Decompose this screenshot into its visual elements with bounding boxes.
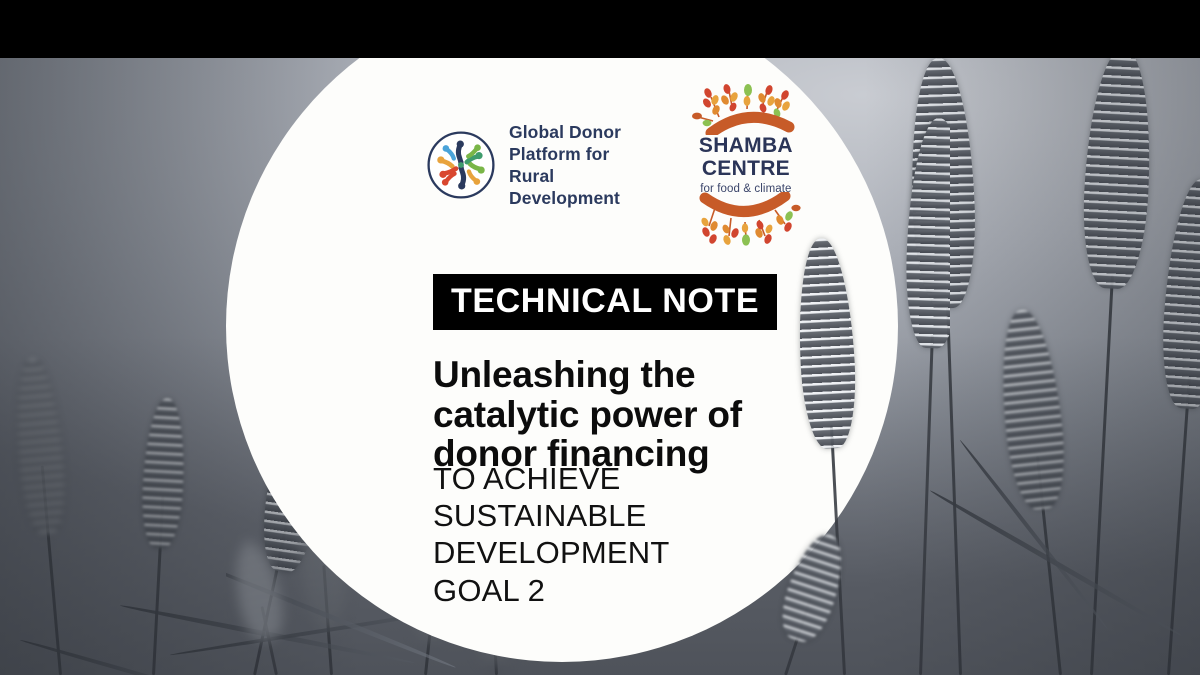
letterbox-bar-top <box>0 0 1200 58</box>
shamba-centre-logo[interactable]: SHAMBA CENTRE for food & climate <box>687 83 805 248</box>
gdprd-logo-text: Global Donor Platform for Rural Developm… <box>509 121 657 209</box>
shamba-centre-title: SHAMBA CENTRE <box>699 135 793 180</box>
shamba-centre-tagline: for food & climate <box>699 183 793 195</box>
slide-canvas: Global Donor Platform for Rural Developm… <box>0 0 1200 675</box>
page-title: Unleashing the catalytic power of donor … <box>433 355 833 474</box>
gdprd-logo[interactable]: Global Donor Platform for Rural Developm… <box>425 121 657 209</box>
page-subtitle: TO ACHIEVE SUSTAINABLE DEVELOPMENT GOAL … <box>433 460 793 609</box>
leafy-arc-bottom-icon <box>693 192 805 248</box>
technical-note-label: TECHNICAL NOTE <box>451 284 759 318</box>
shamba-wordmark: SHAMBA CENTRE for food & climate <box>699 135 793 195</box>
circle-of-people-icon <box>425 129 497 201</box>
cover-content: Global Donor Platform for Rural Developm… <box>0 0 1200 675</box>
technical-note-banner: TECHNICAL NOTE <box>433 274 777 330</box>
logo-row: Global Donor Platform for Rural Developm… <box>425 80 805 250</box>
leafy-arc-top-icon <box>689 83 807 135</box>
